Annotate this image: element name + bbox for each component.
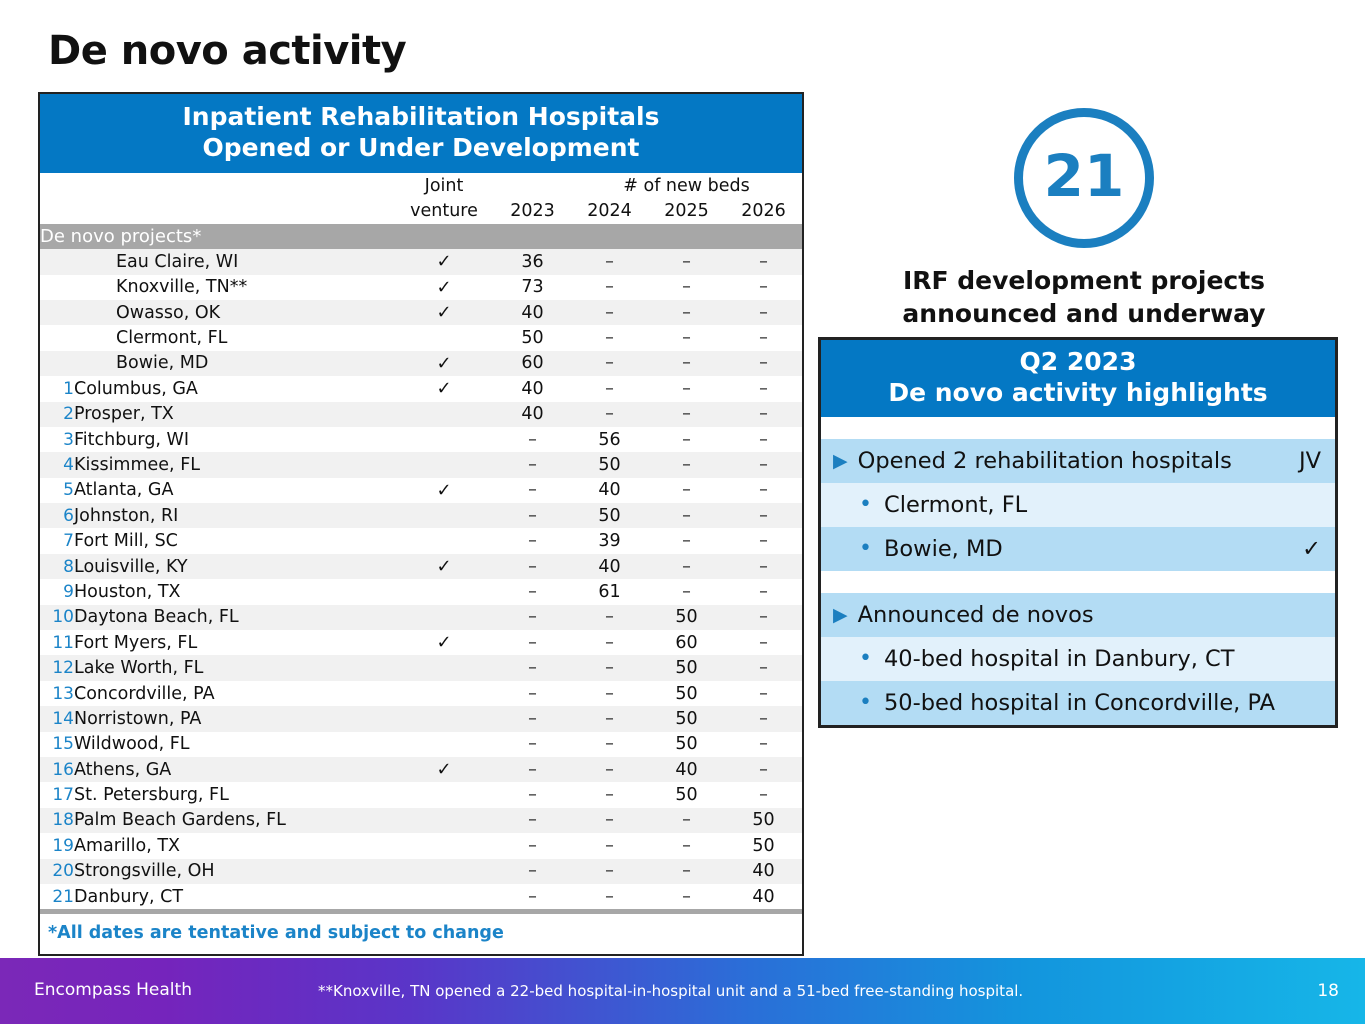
table-row: 11Fort Myers, FL✓––60– bbox=[40, 630, 802, 655]
beds-2023: – bbox=[494, 808, 571, 833]
highlight-list-item: •Clermont, FL bbox=[821, 483, 1335, 527]
row-index bbox=[40, 325, 74, 350]
table-row: 6Johnston, RI–50–– bbox=[40, 503, 802, 528]
highlights-spacer bbox=[821, 417, 1335, 439]
beds-2024: 50 bbox=[571, 452, 648, 477]
row-location: Houston, TX bbox=[74, 579, 394, 604]
q2-highlights-panel: Q2 2023 De novo activity highlights ▶Ope… bbox=[818, 337, 1338, 728]
table-row: 20Strongsville, OH–––40 bbox=[40, 859, 802, 884]
joint-venture-cell bbox=[394, 884, 494, 909]
row-index bbox=[40, 249, 74, 274]
row-index: 15 bbox=[40, 732, 74, 757]
highlights-spacer bbox=[821, 571, 1335, 593]
table-row: 12Lake Worth, FL––50– bbox=[40, 655, 802, 680]
beds-2026: – bbox=[725, 630, 802, 655]
row-index: 10 bbox=[40, 605, 74, 630]
joint-venture-cell bbox=[394, 402, 494, 427]
beds-2024: – bbox=[571, 859, 648, 884]
table-header-row-bottom: venture 2023 2024 2025 2026 bbox=[40, 198, 802, 223]
beds-2025: – bbox=[648, 528, 725, 553]
spacer-cell bbox=[74, 173, 394, 198]
beds-2023: – bbox=[494, 655, 571, 680]
highlight-group-label: Announced de novos bbox=[858, 602, 1321, 628]
table-row: 5Atlanta, GA✓–40–– bbox=[40, 478, 802, 503]
beds-2026: – bbox=[725, 782, 802, 807]
bullet-icon: • bbox=[859, 692, 872, 714]
beds-2023: – bbox=[494, 427, 571, 452]
beds-2025: – bbox=[648, 351, 725, 376]
highlight-item-label: Bowie, MD bbox=[884, 536, 1302, 562]
beds-2025: – bbox=[648, 884, 725, 909]
callout-circle-icon: 21 bbox=[1014, 108, 1154, 248]
row-location: Eau Claire, WI bbox=[74, 249, 394, 274]
highlight-list-item: •40-bed hospital in Danbury, CT bbox=[821, 637, 1335, 681]
callout-number: 21 bbox=[1044, 147, 1125, 209]
row-location: Fort Myers, FL bbox=[74, 630, 394, 655]
beds-2024: – bbox=[571, 249, 648, 274]
highlight-item-label: 50-bed hospital in Concordville, PA bbox=[884, 690, 1321, 716]
bullet-icon: • bbox=[859, 538, 872, 560]
beds-2025: – bbox=[648, 402, 725, 427]
joint-venture-cell bbox=[394, 655, 494, 680]
col-header-2026: 2026 bbox=[725, 198, 802, 223]
table-row: 2Prosper, TX40––– bbox=[40, 402, 802, 427]
table-row: 19Amarillo, TX–––50 bbox=[40, 833, 802, 858]
table-row: 8Louisville, KY✓–40–– bbox=[40, 554, 802, 579]
beds-2023: – bbox=[494, 681, 571, 706]
row-location: Daytona Beach, FL bbox=[74, 605, 394, 630]
beds-2025: – bbox=[648, 452, 725, 477]
row-index: 3 bbox=[40, 427, 74, 452]
col-header-2024: 2024 bbox=[571, 198, 648, 223]
beds-2025: – bbox=[648, 808, 725, 833]
row-index: 8 bbox=[40, 554, 74, 579]
joint-venture-check-icon: ✓ bbox=[1302, 536, 1325, 562]
beds-2024: – bbox=[571, 351, 648, 376]
beds-2023: 50 bbox=[494, 325, 571, 350]
joint-venture-cell bbox=[394, 605, 494, 630]
footer-note: **Knoxville, TN opened a 22-bed hospital… bbox=[318, 982, 1023, 1000]
row-index: 6 bbox=[40, 503, 74, 528]
beds-2026: – bbox=[725, 452, 802, 477]
beds-2023: 40 bbox=[494, 300, 571, 325]
joint-venture-check-icon: ✓ bbox=[394, 300, 494, 325]
joint-venture-cell bbox=[394, 706, 494, 731]
beds-2023: 40 bbox=[494, 376, 571, 401]
beds-2023: – bbox=[494, 630, 571, 655]
highlight-item-label: 40-bed hospital in Danbury, CT bbox=[884, 646, 1321, 672]
table-row: 7Fort Mill, SC–39–– bbox=[40, 528, 802, 553]
row-index: 11 bbox=[40, 630, 74, 655]
beds-2026: 40 bbox=[725, 859, 802, 884]
row-index: 18 bbox=[40, 808, 74, 833]
joint-venture-cell bbox=[394, 859, 494, 884]
beds-2026: – bbox=[725, 757, 802, 782]
beds-2026: – bbox=[725, 681, 802, 706]
spacer-cell bbox=[74, 198, 394, 223]
beds-2026: – bbox=[725, 605, 802, 630]
joint-venture-check-icon: ✓ bbox=[394, 351, 494, 376]
beds-2024: 39 bbox=[571, 528, 648, 553]
row-index: 4 bbox=[40, 452, 74, 477]
beds-2025: – bbox=[648, 300, 725, 325]
table-row: Knoxville, TN**✓73––– bbox=[40, 275, 802, 300]
joint-venture-cell bbox=[394, 528, 494, 553]
highlight-item-label: Clermont, FL bbox=[884, 492, 1321, 518]
beds-2023: 73 bbox=[494, 275, 571, 300]
table-row: Bowie, MD✓60––– bbox=[40, 351, 802, 376]
highlights-title: Q2 2023 De novo activity highlights bbox=[821, 340, 1335, 417]
beds-2025: – bbox=[648, 275, 725, 300]
beds-2023: 40 bbox=[494, 402, 571, 427]
table-row: Eau Claire, WI✓36––– bbox=[40, 249, 802, 274]
beds-2026: – bbox=[725, 275, 802, 300]
beds-2024: 56 bbox=[571, 427, 648, 452]
beds-2024: – bbox=[571, 884, 648, 909]
spacer-cell bbox=[40, 173, 74, 198]
joint-venture-cell bbox=[394, 503, 494, 528]
row-index: 7 bbox=[40, 528, 74, 553]
table-row: 4Kissimmee, FL–50–– bbox=[40, 452, 802, 477]
row-index: 21 bbox=[40, 884, 74, 909]
beds-2026: – bbox=[725, 706, 802, 731]
table-row: 10Daytona Beach, FL––50– bbox=[40, 605, 802, 630]
row-location: Amarillo, TX bbox=[74, 833, 394, 858]
joint-venture-check-icon: ✓ bbox=[394, 630, 494, 655]
row-location: Danbury, CT bbox=[74, 884, 394, 909]
beds-2023: – bbox=[494, 706, 571, 731]
joint-venture-check-icon: ✓ bbox=[394, 275, 494, 300]
beds-2025: 40 bbox=[648, 757, 725, 782]
beds-2024: – bbox=[571, 757, 648, 782]
row-location: Louisville, KY bbox=[74, 554, 394, 579]
row-index: 16 bbox=[40, 757, 74, 782]
beds-2025: 50 bbox=[648, 706, 725, 731]
inpatient-rehab-table-card: Inpatient Rehabilitation Hospitals Opene… bbox=[38, 92, 804, 956]
beds-2025: 50 bbox=[648, 605, 725, 630]
table-row: Clermont, FL50––– bbox=[40, 325, 802, 350]
beds-2025: – bbox=[648, 376, 725, 401]
row-location: Wildwood, FL bbox=[74, 732, 394, 757]
beds-2025: – bbox=[648, 833, 725, 858]
row-location: Columbus, GA bbox=[74, 376, 394, 401]
col-header-2025: 2025 bbox=[648, 198, 725, 223]
joint-venture-check-icon: ✓ bbox=[394, 554, 494, 579]
beds-2023: – bbox=[494, 782, 571, 807]
highlight-list-item: •50-bed hospital in Concordville, PA bbox=[821, 681, 1335, 725]
beds-2023: – bbox=[494, 579, 571, 604]
row-index: 2 bbox=[40, 402, 74, 427]
beds-2023: – bbox=[494, 605, 571, 630]
page-title: De novo activity bbox=[48, 28, 406, 74]
row-index: 9 bbox=[40, 579, 74, 604]
beds-2025: 50 bbox=[648, 681, 725, 706]
table-row: 3Fitchburg, WI–56–– bbox=[40, 427, 802, 452]
beds-2025: – bbox=[648, 325, 725, 350]
joint-venture-check-icon: ✓ bbox=[394, 249, 494, 274]
row-location: Concordville, PA bbox=[74, 681, 394, 706]
highlight-group-label: Opened 2 rehabilitation hospitals bbox=[858, 448, 1299, 474]
beds-2023: – bbox=[494, 554, 571, 579]
highlights-title-line1: Q2 2023 bbox=[825, 347, 1331, 378]
row-location: Prosper, TX bbox=[74, 402, 394, 427]
row-location: Fort Mill, SC bbox=[74, 528, 394, 553]
row-location: Kissimmee, FL bbox=[74, 452, 394, 477]
beds-2025: – bbox=[648, 554, 725, 579]
table-row: 18Palm Beach Gardens, FL–––50 bbox=[40, 808, 802, 833]
table-section-row: De novo projects* bbox=[40, 224, 802, 249]
callout-caption-line1: IRF development projects bbox=[820, 264, 1348, 297]
beds-2026: – bbox=[725, 376, 802, 401]
table-row: 1Columbus, GA✓40––– bbox=[40, 376, 802, 401]
joint-venture-cell bbox=[394, 833, 494, 858]
footer-page-number: 18 bbox=[1317, 981, 1339, 1001]
joint-venture-check-icon: ✓ bbox=[394, 376, 494, 401]
row-index: 19 bbox=[40, 833, 74, 858]
row-location: Owasso, OK bbox=[74, 300, 394, 325]
beds-2025: – bbox=[648, 503, 725, 528]
highlights-body: ▶Opened 2 rehabilitation hospitalsJV•Cle… bbox=[821, 417, 1335, 725]
callout-caption: IRF development projects announced and u… bbox=[820, 264, 1348, 330]
table-row: 13Concordville, PA––50– bbox=[40, 681, 802, 706]
beds-2025: – bbox=[648, 478, 725, 503]
table-row: 14Norristown, PA––50– bbox=[40, 706, 802, 731]
row-location: Knoxville, TN** bbox=[74, 275, 394, 300]
beds-2024: 40 bbox=[571, 478, 648, 503]
joint-venture-cell bbox=[394, 579, 494, 604]
joint-venture-cell bbox=[394, 427, 494, 452]
triangle-right-icon: ▶ bbox=[833, 452, 848, 471]
row-location: Athens, GA bbox=[74, 757, 394, 782]
beds-2026: 40 bbox=[725, 884, 802, 909]
beds-2024: – bbox=[571, 275, 648, 300]
row-location: Norristown, PA bbox=[74, 706, 394, 731]
beds-2023: – bbox=[494, 757, 571, 782]
joint-venture-check-icon: ✓ bbox=[394, 478, 494, 503]
joint-venture-cell bbox=[394, 808, 494, 833]
row-location: Fitchburg, WI bbox=[74, 427, 394, 452]
beds-2024: – bbox=[571, 681, 648, 706]
row-location: St. Petersburg, FL bbox=[74, 782, 394, 807]
joint-venture-cell bbox=[394, 782, 494, 807]
beds-2025: – bbox=[648, 859, 725, 884]
joint-venture-cell bbox=[394, 325, 494, 350]
de-novo-projects-table: Joint # of new beds venture 2023 2024 20… bbox=[40, 173, 802, 909]
highlights-title-line2: De novo activity highlights bbox=[825, 378, 1331, 409]
table-title-line1: Inpatient Rehabilitation Hospitals bbox=[44, 102, 798, 133]
bullet-icon: • bbox=[859, 648, 872, 670]
table-row: 9Houston, TX–61–– bbox=[40, 579, 802, 604]
row-index: 17 bbox=[40, 782, 74, 807]
beds-2025: 50 bbox=[648, 782, 725, 807]
table-row: 21Danbury, CT–––40 bbox=[40, 884, 802, 909]
row-index: 14 bbox=[40, 706, 74, 731]
row-index bbox=[40, 300, 74, 325]
beds-2026: – bbox=[725, 478, 802, 503]
highlight-group-heading: ▶Opened 2 rehabilitation hospitalsJV bbox=[821, 439, 1335, 483]
callout-caption-line2: announced and underway bbox=[820, 297, 1348, 330]
beds-2025: – bbox=[648, 249, 725, 274]
beds-2026: – bbox=[725, 655, 802, 680]
joint-venture-cell bbox=[394, 732, 494, 757]
table-section-label: De novo projects* bbox=[40, 224, 802, 249]
row-location: Lake Worth, FL bbox=[74, 655, 394, 680]
beds-2023: – bbox=[494, 859, 571, 884]
row-index bbox=[40, 351, 74, 376]
row-index: 5 bbox=[40, 478, 74, 503]
col-header-2023: 2023 bbox=[494, 198, 571, 223]
beds-2026: – bbox=[725, 351, 802, 376]
beds-2025: 50 bbox=[648, 655, 725, 680]
row-location: Johnston, RI bbox=[74, 503, 394, 528]
irf-projects-callout: 21 IRF development projects announced an… bbox=[820, 108, 1348, 330]
beds-2024: – bbox=[571, 376, 648, 401]
beds-2024: 61 bbox=[571, 579, 648, 604]
beds-2026: 50 bbox=[725, 808, 802, 833]
bullet-icon: • bbox=[859, 494, 872, 516]
joint-venture-cell bbox=[394, 681, 494, 706]
beds-2023: – bbox=[494, 833, 571, 858]
spacer-cell bbox=[494, 173, 571, 198]
row-location: Palm Beach Gardens, FL bbox=[74, 808, 394, 833]
triangle-right-icon: ▶ bbox=[833, 606, 848, 625]
beds-2023: – bbox=[494, 732, 571, 757]
beds-2024: – bbox=[571, 833, 648, 858]
beds-2025: – bbox=[648, 579, 725, 604]
table-footnote: *All dates are tentative and subject to … bbox=[40, 914, 802, 954]
beds-2025: – bbox=[648, 427, 725, 452]
beds-2023: – bbox=[494, 478, 571, 503]
beds-2024: – bbox=[571, 655, 648, 680]
table-title: Inpatient Rehabilitation Hospitals Opene… bbox=[40, 94, 802, 173]
row-location: Clermont, FL bbox=[74, 325, 394, 350]
joint-venture-check-icon: ✓ bbox=[394, 757, 494, 782]
beds-2025: 60 bbox=[648, 630, 725, 655]
beds-2025: 50 bbox=[648, 732, 725, 757]
beds-2026: – bbox=[725, 402, 802, 427]
beds-2023: – bbox=[494, 503, 571, 528]
highlight-group-heading: ▶Announced de novos bbox=[821, 593, 1335, 637]
beds-2024: – bbox=[571, 325, 648, 350]
row-index bbox=[40, 275, 74, 300]
table-row: 17St. Petersburg, FL––50– bbox=[40, 782, 802, 807]
col-header-joint-line2: venture bbox=[394, 198, 494, 223]
table-row: Owasso, OK✓40––– bbox=[40, 300, 802, 325]
table-header-row-top: Joint # of new beds bbox=[40, 173, 802, 198]
row-location: Strongsville, OH bbox=[74, 859, 394, 884]
beds-2024: – bbox=[571, 630, 648, 655]
beds-2026: – bbox=[725, 427, 802, 452]
beds-2024: – bbox=[571, 782, 648, 807]
beds-2024: – bbox=[571, 605, 648, 630]
beds-2026: – bbox=[725, 249, 802, 274]
table-row: 15Wildwood, FL––50– bbox=[40, 732, 802, 757]
beds-2024: – bbox=[571, 300, 648, 325]
beds-2026: – bbox=[725, 300, 802, 325]
beds-2026: – bbox=[725, 325, 802, 350]
joint-venture-cell bbox=[394, 452, 494, 477]
beds-2024: 50 bbox=[571, 503, 648, 528]
beds-2023: – bbox=[494, 452, 571, 477]
row-index: 1 bbox=[40, 376, 74, 401]
beds-2024: – bbox=[571, 402, 648, 427]
beds-2024: – bbox=[571, 808, 648, 833]
beds-2024: – bbox=[571, 706, 648, 731]
beds-2026: – bbox=[725, 528, 802, 553]
spacer-cell bbox=[40, 198, 74, 223]
beds-2026: – bbox=[725, 579, 802, 604]
beds-2026: – bbox=[725, 503, 802, 528]
row-index: 20 bbox=[40, 859, 74, 884]
highlight-list-item: •Bowie, MD✓ bbox=[821, 527, 1335, 571]
row-location: Atlanta, GA bbox=[74, 478, 394, 503]
col-header-joint-line1: Joint bbox=[394, 173, 494, 198]
beds-2024: – bbox=[571, 732, 648, 757]
beds-2026: – bbox=[725, 554, 802, 579]
table-row: 16Athens, GA✓––40– bbox=[40, 757, 802, 782]
footer-brand: Encompass Health bbox=[34, 980, 192, 1000]
beds-2023: 60 bbox=[494, 351, 571, 376]
row-index: 12 bbox=[40, 655, 74, 680]
beds-2023: – bbox=[494, 528, 571, 553]
row-location: Bowie, MD bbox=[74, 351, 394, 376]
beds-2023: 36 bbox=[494, 249, 571, 274]
highlight-group-jv-label: JV bbox=[1299, 448, 1325, 474]
col-header-beds-group: # of new beds bbox=[571, 173, 802, 198]
table-title-line2: Opened or Under Development bbox=[44, 133, 798, 164]
row-index: 13 bbox=[40, 681, 74, 706]
beds-2026: – bbox=[725, 732, 802, 757]
beds-2026: 50 bbox=[725, 833, 802, 858]
slide-footer: Encompass Health **Knoxville, TN opened … bbox=[0, 958, 1365, 1024]
beds-2023: – bbox=[494, 884, 571, 909]
beds-2024: 40 bbox=[571, 554, 648, 579]
